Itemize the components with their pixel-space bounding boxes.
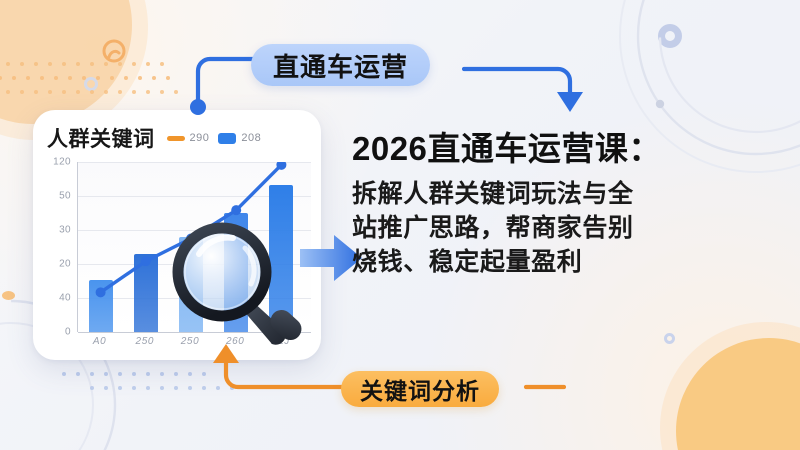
headline-subtitle-line: 拆解人群关键词玩法与全: [352, 177, 794, 211]
decor-dot: [48, 62, 52, 66]
decor-dot: [110, 76, 114, 80]
decor-dot: [174, 90, 178, 94]
decor-ring-blue-top-right: [658, 24, 682, 48]
decor-dot: [188, 386, 192, 390]
decor-dot: [40, 76, 44, 80]
decor-dot: [62, 372, 66, 376]
chart-title: 人群关键词: [47, 123, 155, 153]
legend-item-line: 290: [167, 132, 210, 144]
decor-dot: [6, 90, 10, 94]
chart-line-point: [96, 287, 106, 297]
badge-bottom-label: 关键词分析: [360, 372, 480, 406]
decor-dot: [118, 62, 122, 66]
decor-dot: [0, 76, 2, 80]
headline-block: 2026直通车运营课： 拆解人群关键词玩法与全站推广思路，帮商家告别烧钱、稳定起…: [352, 131, 794, 279]
legend-swatch-bar: [218, 133, 236, 144]
decor-dot: [174, 386, 178, 390]
chart-legend: 290 208: [167, 132, 262, 144]
decor-dot: [104, 90, 108, 94]
decor-dot: [48, 90, 52, 94]
decor-dot: [146, 372, 150, 376]
headline-subtitle-line: 烧钱、稳定起量盈利: [352, 245, 794, 279]
decor-dot: [20, 62, 24, 66]
decor-dot: [160, 386, 164, 390]
decor-dot: [132, 386, 136, 390]
decor-dot: [188, 372, 192, 376]
decor-dot: [104, 372, 108, 376]
decor-dot: [152, 76, 156, 80]
chart-y-tick: 0: [65, 327, 71, 338]
decor-dot: [34, 62, 38, 66]
chart-header: 人群关键词 290 208: [47, 123, 307, 153]
decor-dot: [76, 62, 80, 66]
decor-dot: [160, 372, 164, 376]
decor-dot: [54, 76, 58, 80]
decor-dot: [76, 372, 80, 376]
chart-y-tick: 30: [59, 225, 71, 236]
decor-dot: [90, 372, 94, 376]
badge-top-label: 直通车运营: [273, 47, 408, 84]
decor-dot: [26, 76, 30, 80]
decor-dot: [138, 76, 142, 80]
decor-dot: [118, 386, 122, 390]
badge-top[interactable]: 直通车运营: [251, 44, 430, 86]
decor-dot: [160, 62, 164, 66]
decor-dot: [160, 90, 164, 94]
chart-x-tick: 250: [136, 336, 155, 347]
chart-y-tick: 50: [59, 191, 71, 202]
decor-dot: [6, 62, 10, 66]
decor-dot: [104, 62, 108, 66]
decor-dot: [104, 386, 108, 390]
connector-top-right: [462, 62, 588, 114]
decor-dot: [68, 76, 72, 80]
chart-line-point: [141, 256, 151, 266]
badge-bottom[interactable]: 关键词分析: [341, 371, 499, 407]
legend-item-bar: 208: [218, 132, 261, 144]
headline-title: 2026直通车运营课：: [352, 131, 794, 168]
decor-dot: [124, 76, 128, 80]
poster-canvas: 人群关键词 290 208 120503020400: [0, 0, 800, 450]
legend-swatch-line: [167, 136, 185, 141]
decor-dot: [166, 76, 170, 80]
decor-dot: [34, 90, 38, 94]
decor-dot: [132, 62, 136, 66]
decor-dot: [146, 90, 150, 94]
legend-label-bar: 208: [241, 132, 261, 144]
headline-subtitle: 拆解人群关键词玩法与全站推广思路，帮商家告别烧钱、稳定起量盈利: [352, 177, 794, 279]
chart-line-point: [231, 205, 241, 215]
decor-dotgrid-top-right: [0, 62, 192, 102]
decor-circle-bottom-right-inner: [676, 338, 800, 450]
chart-y-tick: 40: [59, 293, 71, 304]
legend-label-line: 290: [190, 132, 210, 144]
decor-dot: [132, 372, 136, 376]
decor-dot: [62, 62, 66, 66]
decor-dot: [118, 372, 122, 376]
decor-circle-bottom-right-outer: [660, 322, 800, 450]
decor-dot: [20, 90, 24, 94]
decor-dot: [82, 76, 86, 80]
decor-dot: [12, 76, 16, 80]
chart-y-tick: 120: [53, 157, 71, 168]
decor-dot: [132, 90, 136, 94]
decor-dot: [62, 90, 66, 94]
headline-subtitle-line: 站推广思路，帮商家告别: [352, 211, 794, 245]
decor-dot-orange-bottom-left: [2, 291, 15, 300]
decor-dot: [118, 90, 122, 94]
decor-dot: [90, 62, 94, 66]
decor-dot: [90, 386, 94, 390]
decor-dot: [146, 62, 150, 66]
decor-swirl-icon: [100, 37, 128, 65]
decor-dot: [76, 90, 80, 94]
decor-dot: [90, 90, 94, 94]
decor-dot: [96, 76, 100, 80]
chart-x-tick: A0: [93, 336, 106, 347]
chart-y-tick: 20: [59, 259, 71, 270]
decor-dot: [146, 386, 150, 390]
decor-ring-blue-bottom-right: [664, 333, 675, 344]
chart-y-axis-labels: 120503020400: [47, 162, 73, 332]
decor-dot: [174, 372, 178, 376]
